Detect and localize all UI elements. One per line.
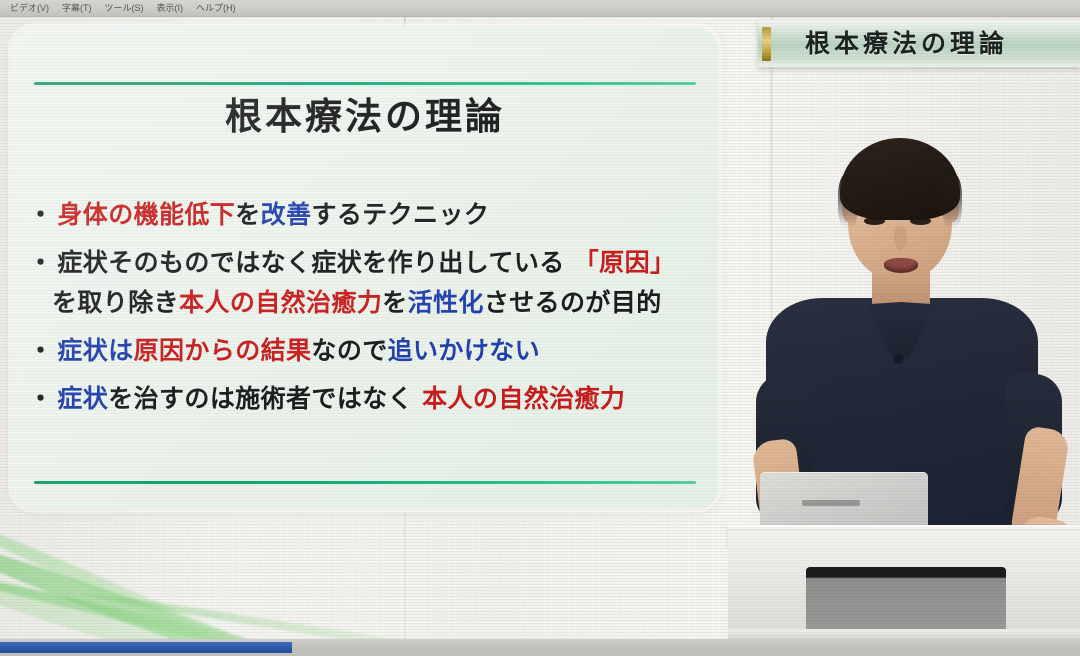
bullet-4-seg-3: 本人の自然治癒力: [422, 384, 625, 413]
slide-bullet-list: ・身体の機能低下を改善するテクニック ・症状そのものではなく症状を作り出している…: [28, 195, 706, 419]
bullet-2-line-2: を取り除き本人の自然治癒力を活性化させるのが目的: [28, 283, 706, 323]
menu-item-subtitle[interactable]: 字幕(T): [56, 2, 99, 15]
bullet-2-seg-7: させるのが目的: [484, 288, 662, 317]
bullet-2-seg-2: 「原因」: [574, 248, 676, 277]
menu-item-tools[interactable]: ツール(S): [99, 2, 151, 15]
presenter-collar-button: [894, 354, 904, 364]
bullet-4-seg-2: を治すのは施術者ではなく: [108, 384, 422, 413]
bullet-marker-1: ・: [28, 200, 53, 229]
menu-item-video[interactable]: ビデオ(V): [4, 2, 56, 15]
bullet-3-seg-1: 症状は: [57, 336, 133, 365]
bullet-4-seg-1: 症状: [57, 384, 108, 413]
bullet-1-seg-2: を: [235, 200, 260, 229]
bullet-3-seg-4: 追いかけない: [388, 336, 540, 365]
laptop-logo: [802, 500, 860, 506]
video-stage[interactable]: 根本療法の理論 ・身体の機能低下を改善するテクニック ・症状そのものではなく症状…: [0, 17, 1080, 639]
bullet-marker-4: ・: [28, 384, 53, 413]
presenter-hair-side-left: [838, 174, 858, 228]
presentation-slide: 根本療法の理論 ・身体の機能低下を改善するテクニック ・症状そのものではなく症状…: [12, 27, 718, 509]
bullet-3-seg-2: 原因からの結果: [134, 336, 312, 365]
presenter-mouth: [884, 258, 918, 273]
bullet-2-seg-5: を: [382, 288, 407, 317]
banner-gold-accent: [762, 27, 771, 61]
bullet-3-seg-3: なので: [311, 336, 387, 365]
seek-bar-progress-fill[interactable]: [0, 642, 292, 653]
presenter-nose: [894, 226, 907, 250]
slide-rule-top: [34, 82, 696, 85]
banner-title-text: 根本療法の理論: [777, 29, 1008, 59]
menu-item-help[interactable]: ヘルプ(H): [190, 2, 243, 15]
slide-bullet-1: ・身体の機能低下を改善するテクニック: [28, 195, 706, 235]
slide-bullet-3: ・症状は原因からの結果なので追いかけない: [28, 331, 706, 371]
bullet-2-seg-1: 症状そのものではなく症状を作り出している: [57, 248, 573, 277]
bullet-2-seg-4: 本人の自然治癒力: [179, 288, 382, 317]
bullet-2-seg-6: 活性化: [408, 288, 484, 317]
menu-bar: ビデオ(V) 字幕(T) ツール(S) 表示(I) ヘルプ(H): [0, 0, 1080, 17]
bullet-1-seg-3: 改善: [261, 200, 312, 229]
bullet-1-seg-1: 身体の機能低下: [57, 200, 235, 229]
presenter-hair-side-right: [942, 174, 962, 228]
bullet-marker-3: ・: [28, 336, 53, 365]
bullet-marker-2: ・: [28, 248, 53, 277]
bullet-1-seg-4: するテクニック: [311, 200, 489, 229]
slide-title: 根本療法の理論: [12, 93, 718, 139]
corner-title-banner: 根本療法の理論: [758, 20, 1080, 67]
slide-rule-bottom: [34, 481, 696, 484]
slide-bullet-2: ・症状そのものではなく症状を作り出している 「原因」 を取り除き本人の自然治癒力…: [28, 243, 706, 323]
video-player-window: ビデオ(V) 字幕(T) ツール(S) 表示(I) ヘルプ(H) 根本療法の理論: [0, 0, 1080, 656]
menu-item-view[interactable]: 表示(I): [151, 2, 191, 15]
bullet-2-seg-3: を取り除き: [52, 288, 179, 317]
slide-bullet-4: ・症状を治すのは施術者ではなく 本人の自然治癒力: [28, 379, 706, 419]
podium-base-trim: [728, 629, 1080, 639]
